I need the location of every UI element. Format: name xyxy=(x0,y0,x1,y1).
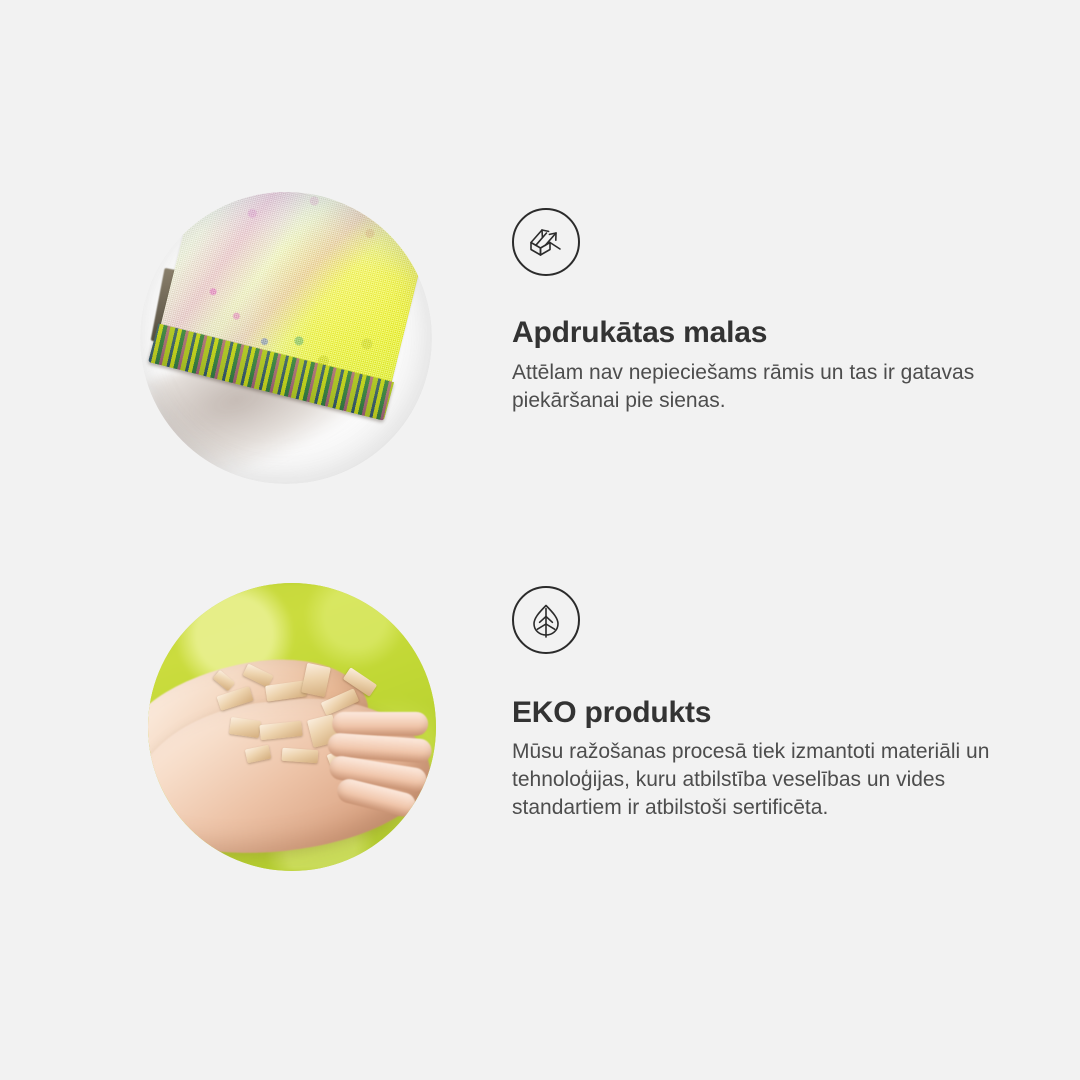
page-title: Apdrukātas malas xyxy=(512,316,1012,350)
feature-description: Mūsu ražošanas procesā tiek izmantoti ma… xyxy=(512,738,1012,822)
fingers xyxy=(305,705,435,821)
canvas-print-corner-photo xyxy=(140,192,432,484)
leaf-icon xyxy=(512,586,580,654)
printed-edges-text-block: Apdrukātas malas Attēlam nav nepieciešam… xyxy=(512,208,1012,415)
feature-eco-product: EKO produkts Mūsu ražošanas procesā tiek… xyxy=(0,560,1080,900)
hands-holding-wood-chips-photo xyxy=(148,583,436,871)
feature-description: Attēlam nav nepieciešams rāmis un tas ir… xyxy=(512,359,1012,415)
feature-printed-edges: Apdrukātas malas Attēlam nav nepieciešam… xyxy=(0,170,1080,520)
printed-canvas-edge-icon xyxy=(512,208,580,276)
page-title: EKO produkts xyxy=(512,696,1012,730)
eco-product-text-block: EKO produkts Mūsu ražošanas procesā tiek… xyxy=(512,586,1012,822)
